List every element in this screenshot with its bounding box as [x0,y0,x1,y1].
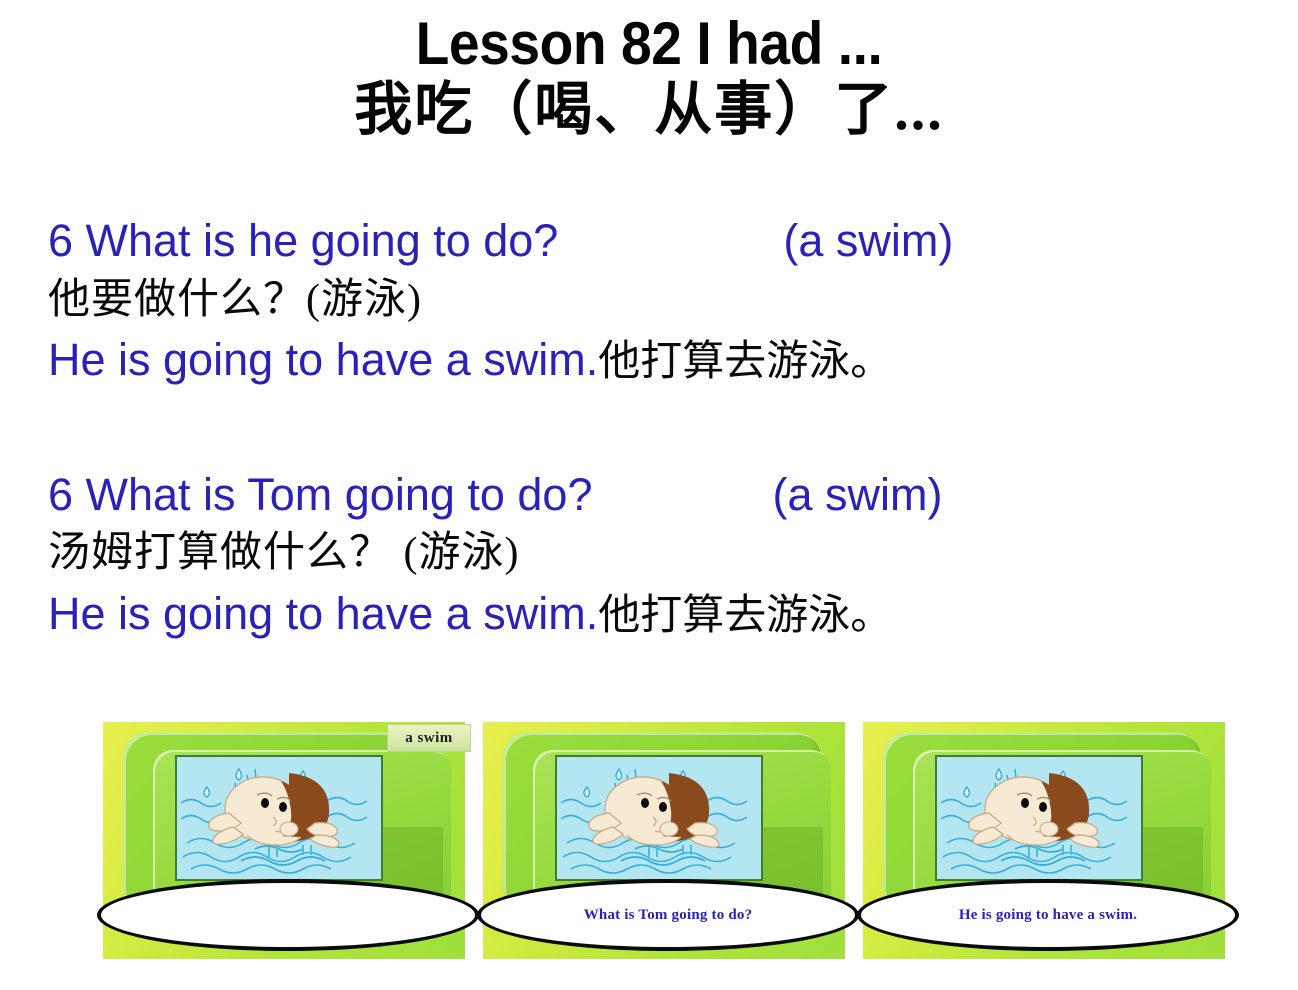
a-swim-label-text: a swim [405,730,453,747]
exercise-block-1: 6 What is he going to do? (a swim) 他要做什么… [48,212,1258,390]
caption-bubble-3: He is going to have a swim. [857,879,1239,951]
question-chinese-1: 他要做什么？(游泳) [48,273,1258,328]
picture-panel-1: a swim [103,722,465,959]
caption-bubble-2: What is Tom going to do? [477,879,859,951]
caption-text-3: He is going to have a swim. [959,907,1137,924]
title-english: Lesson 82 I had ... [52,14,1246,74]
block-spacer [48,390,1258,466]
answer-chinese-1: 他打算去游泳。 [598,339,892,385]
swimmer-illustration-3 [935,755,1143,881]
question-text-2: 6 What is Tom going to do? [48,466,592,525]
answer-chinese-2: 他打算去游泳。 [598,593,892,639]
page-title: Lesson 82 I had ... 我吃（喝、从事）了... [0,0,1298,143]
answer-line-2: He is going to have a swim.他打算去游泳。 [48,585,1258,644]
question-line-2: 6 What is Tom going to do? (a swim) [48,466,1258,525]
question-hint-1: (a swim) [783,212,953,271]
answer-english-2: He is going to have a swim. [48,588,598,639]
swimmer-illustration-2 [555,755,763,881]
title-chinese: 我吃（喝、从事）了... [0,78,1298,143]
question-hint-2: (a swim) [772,466,942,525]
answer-line-1: He is going to have a swim.他打算去游泳。 [48,331,1258,390]
exercise-text-area: 6 What is he going to do? (a swim) 他要做什么… [48,212,1258,643]
caption-text-2: What is Tom going to do? [584,907,753,924]
swimmer-illustration-1 [175,755,383,881]
exercise-block-2: 6 What is Tom going to do? (a swim) 汤姆打算… [48,466,1258,644]
answer-english-1: He is going to have a swim. [48,334,598,385]
question-text-1: 6 What is he going to do? [48,212,558,271]
a-swim-label-tab: a swim [387,724,471,752]
picture-panel-2: What is Tom going to do? [483,722,845,959]
picture-panel-row: a swim [103,722,1225,959]
caption-bubble-1 [97,879,479,951]
picture-panel-3: He is going to have a swim. [863,722,1225,959]
question-line-1: 6 What is he going to do? (a swim) [48,212,1258,271]
question-chinese-2: 汤姆打算做什么？ (游泳) [48,526,1258,581]
